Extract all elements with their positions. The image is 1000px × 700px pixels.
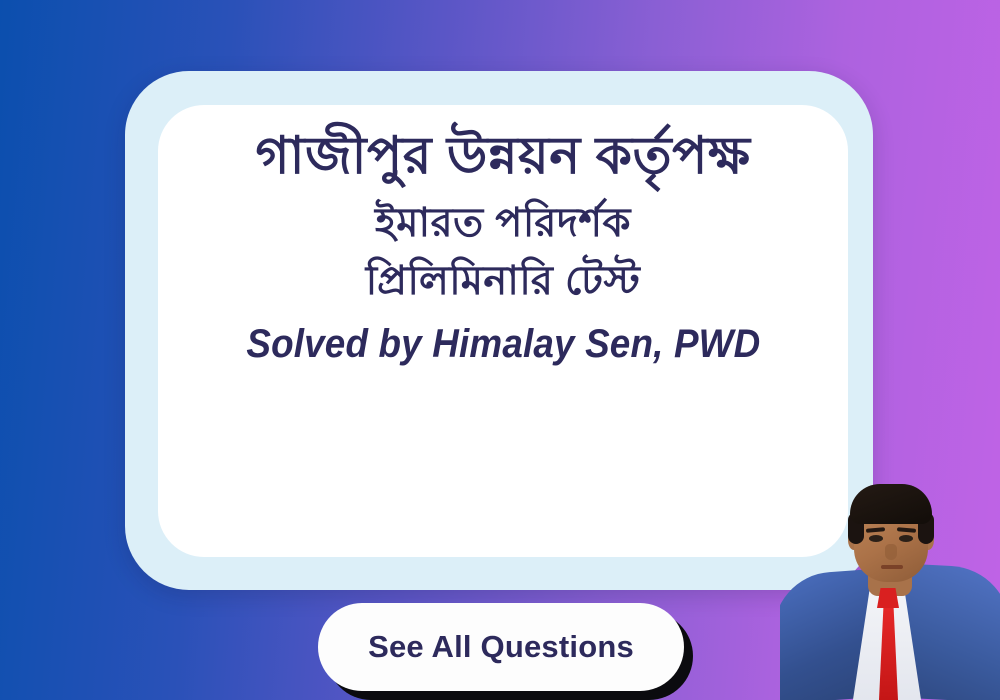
portrait-eye-right [899, 535, 913, 542]
portrait-mouth [881, 565, 903, 569]
see-all-questions-wrapper[interactable]: See All Questions [318, 603, 684, 700]
presenter-portrait [780, 475, 1000, 700]
byline-credit: Solved by Himalay Sen, PWD [246, 322, 760, 367]
page-title-line-3: প্রিলিমিনারি টেস্ট [366, 260, 641, 302]
see-all-questions-button[interactable]: See All Questions [318, 603, 684, 691]
card-text-block: গাজীপুর উন্নয়ন কর্তৃপক্ষ ইমারত পরিদর্শক… [158, 105, 848, 557]
portrait-hair-top [850, 484, 932, 524]
page-title-line-1: গাজীপুর উন্নয়ন কর্তৃপক্ষ [255, 129, 750, 184]
portrait-eye-left [869, 535, 883, 542]
portrait-nose [885, 544, 897, 560]
promo-card-stage: গাজীপুর উন্নয়ন কর্তৃপক্ষ ইমারত পরিদর্শক… [0, 0, 1000, 700]
portrait-tie-knot [877, 588, 899, 608]
page-title-line-2: ইমারত পরিদর্শক [375, 202, 631, 244]
